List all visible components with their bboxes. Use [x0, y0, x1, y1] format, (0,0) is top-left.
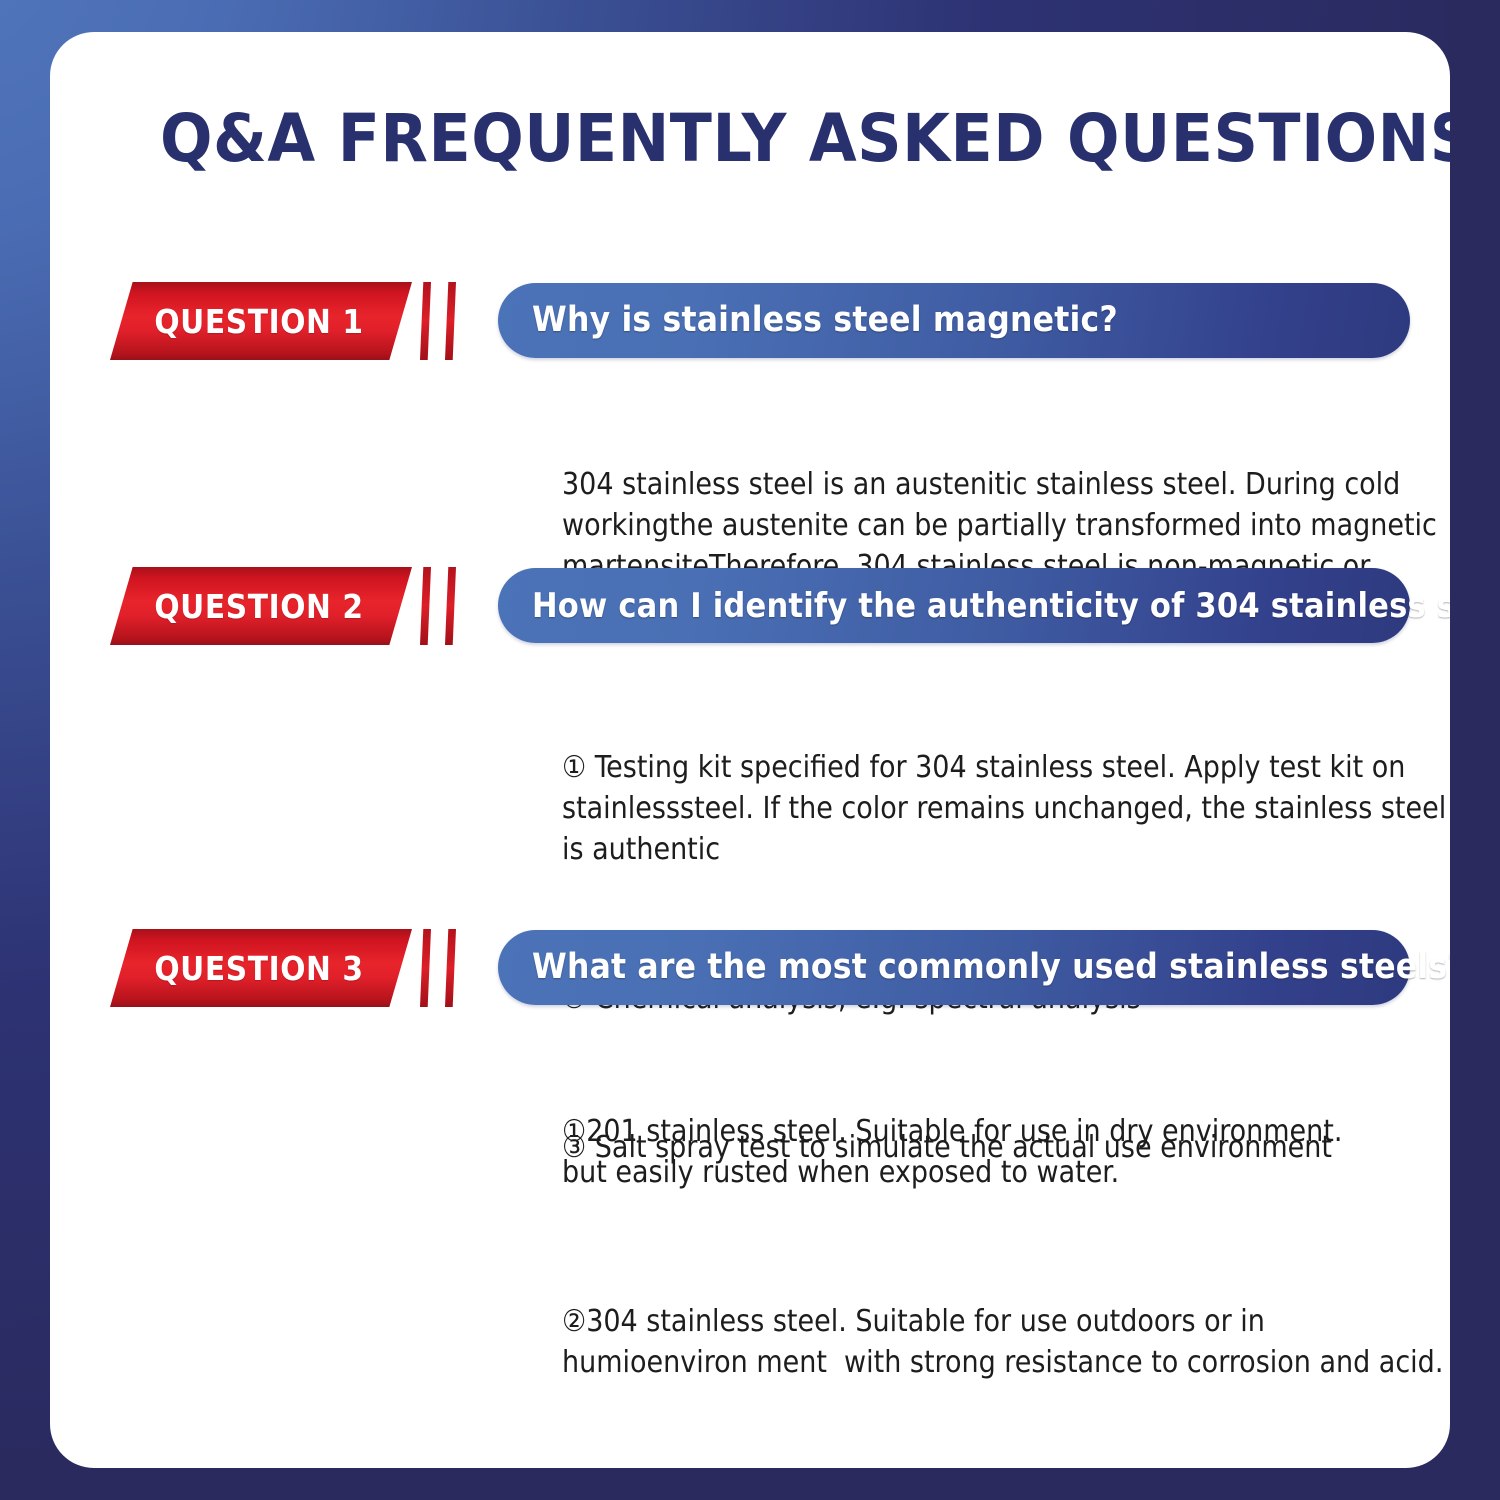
qa-block-1: QUESTION 1 Why is stainless steel magnet…: [50, 282, 1450, 360]
slash-icon: [445, 929, 456, 1007]
question-badge-label-3: QUESTION 3: [154, 949, 363, 988]
question-text-3: What are the most commonly used stainles…: [532, 950, 1450, 985]
slash-icon: [420, 282, 431, 360]
question-badge-1[interactable]: QUESTION 1: [110, 282, 412, 360]
answer-paragraph: ① Testing kit specified for 304 stainles…: [562, 747, 1450, 870]
answer-paragraph: ①201 stainless steel. Suitable for use i…: [562, 1111, 1450, 1193]
qa-header-3: QUESTION 3 What are the most commonly us…: [50, 929, 1450, 1007]
qa-header-2: QUESTION 2 How can I identify the authen…: [50, 567, 1450, 645]
qa-header-1: QUESTION 1 Why is stainless steel magnet…: [50, 282, 1450, 360]
question-badge-label-2: QUESTION 2: [154, 587, 363, 626]
slash-separator-3: [416, 929, 482, 1007]
question-pill-3[interactable]: What are the most commonly used stainles…: [498, 930, 1410, 1005]
answer-body-1: 304 stainless steel is an austenitic sta…: [562, 382, 1450, 710]
question-badge-label-1: QUESTION 1: [154, 302, 363, 341]
question-pill-1[interactable]: Why is stainless steel magnetic?: [498, 283, 1410, 358]
page-background: Q&A FREQUENTLY ASKED QUESTIONS QUESTION …: [0, 0, 1500, 1500]
slash-separator-2: [416, 567, 482, 645]
question-text-1: Why is stainless steel magnetic?: [532, 303, 1118, 338]
page-title: Q&A FREQUENTLY ASKED QUESTIONS: [160, 106, 1450, 172]
faq-card: Q&A FREQUENTLY ASKED QUESTIONS QUESTION …: [50, 32, 1450, 1468]
slash-icon: [420, 929, 431, 1007]
qa-block-2: QUESTION 2 How can I identify the authen…: [50, 567, 1450, 645]
slash-icon: [420, 567, 431, 645]
answer-body-3: ①201 stainless steel. Suitable for use i…: [562, 1029, 1450, 1468]
slash-separator-1: [416, 282, 482, 360]
question-badge-3[interactable]: QUESTION 3: [110, 929, 412, 1007]
question-badge-2[interactable]: QUESTION 2: [110, 567, 412, 645]
slash-icon: [445, 567, 456, 645]
qa-block-3: QUESTION 3 What are the most commonly us…: [50, 929, 1450, 1007]
answer-paragraph: ②304 stainless steel. Suitable for use o…: [562, 1301, 1450, 1383]
question-text-2: How can I identify the authenticity of 3…: [532, 589, 1450, 623]
question-pill-2[interactable]: How can I identify the authenticity of 3…: [498, 568, 1410, 643]
slash-icon: [445, 282, 456, 360]
